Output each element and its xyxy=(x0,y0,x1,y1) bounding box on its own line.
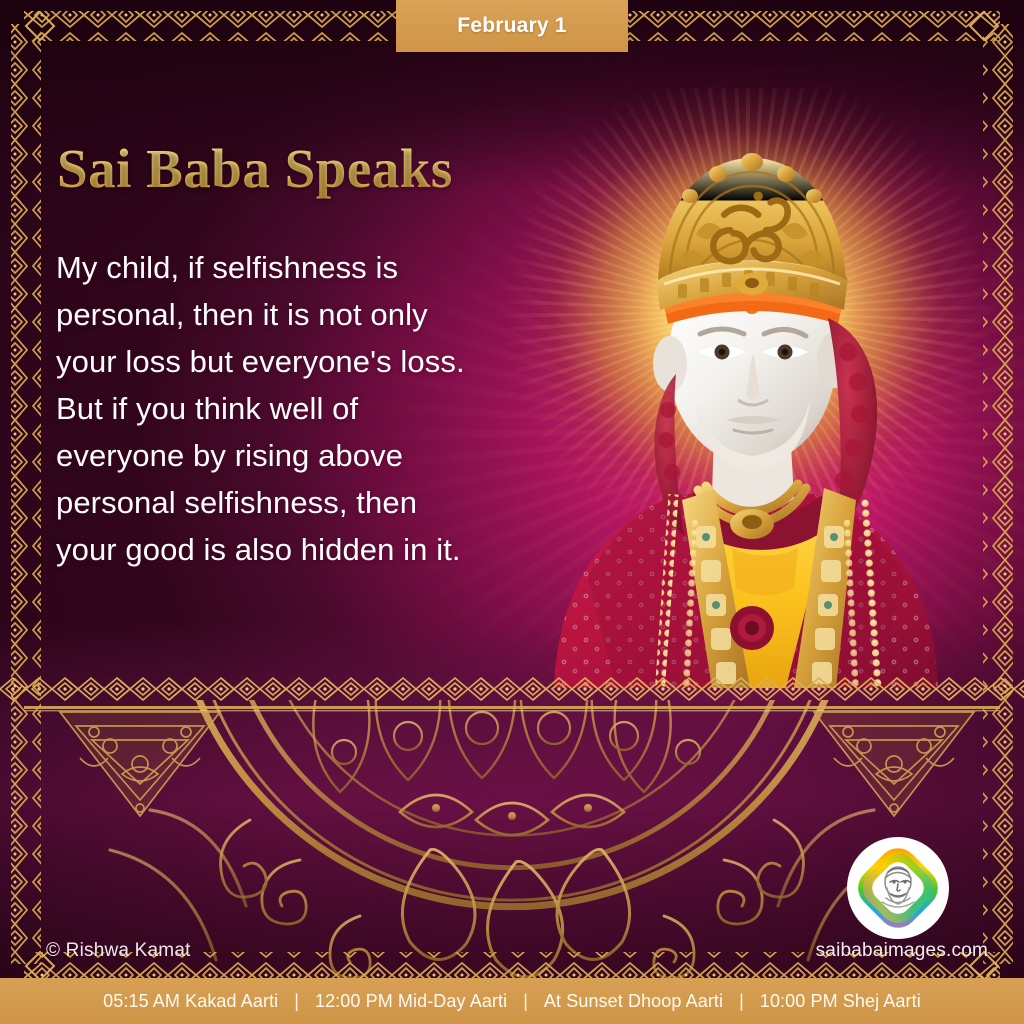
quote-text: My child, if selfishness is personal, th… xyxy=(56,244,526,573)
quote-line: your good is also hidden in it. xyxy=(56,526,526,573)
quote-line: your loss but everyone's loss. xyxy=(56,338,526,385)
quote-line: personal, then it is not only xyxy=(56,291,526,338)
separator: | xyxy=(723,991,760,1012)
aarti-timing: 12:00 PM Mid-Day Aarti xyxy=(315,991,507,1012)
quote-line: personal selfishness, then xyxy=(56,479,526,526)
devotional-quote-card: February 1 Sai Baba Speaks My child, if … xyxy=(0,0,1024,1024)
separator: | xyxy=(507,991,544,1012)
quote-line: But if you think well of xyxy=(56,385,526,432)
quote-line: everyone by rising above xyxy=(56,432,526,479)
divider-band xyxy=(0,676,1024,716)
saibaba-logo-icon[interactable] xyxy=(846,836,950,940)
date-banner: February 1 xyxy=(396,0,628,52)
aarti-timing: At Sunset Dhoop Aarti xyxy=(544,991,723,1012)
sai-baba-idol-image xyxy=(536,128,956,688)
website-text[interactable]: saibabaimages.com xyxy=(816,940,988,962)
sai-baba-idol-container xyxy=(536,128,956,688)
date-text: February 1 xyxy=(457,14,566,38)
aarti-timings-strip: 05:15 AM Kakad Aarti | 12:00 PM Mid-Day … xyxy=(0,978,1024,1024)
aarti-timing: 10:00 PM Shej Aarti xyxy=(760,991,921,1012)
separator: | xyxy=(278,991,315,1012)
quote-line: My child, if selfishness is xyxy=(56,244,526,291)
copyright-text: © Rishwa Kamat xyxy=(46,940,191,962)
aarti-timing: 05:15 AM Kakad Aarti xyxy=(103,991,278,1012)
page-title: Sai Baba Speaks xyxy=(57,137,453,200)
